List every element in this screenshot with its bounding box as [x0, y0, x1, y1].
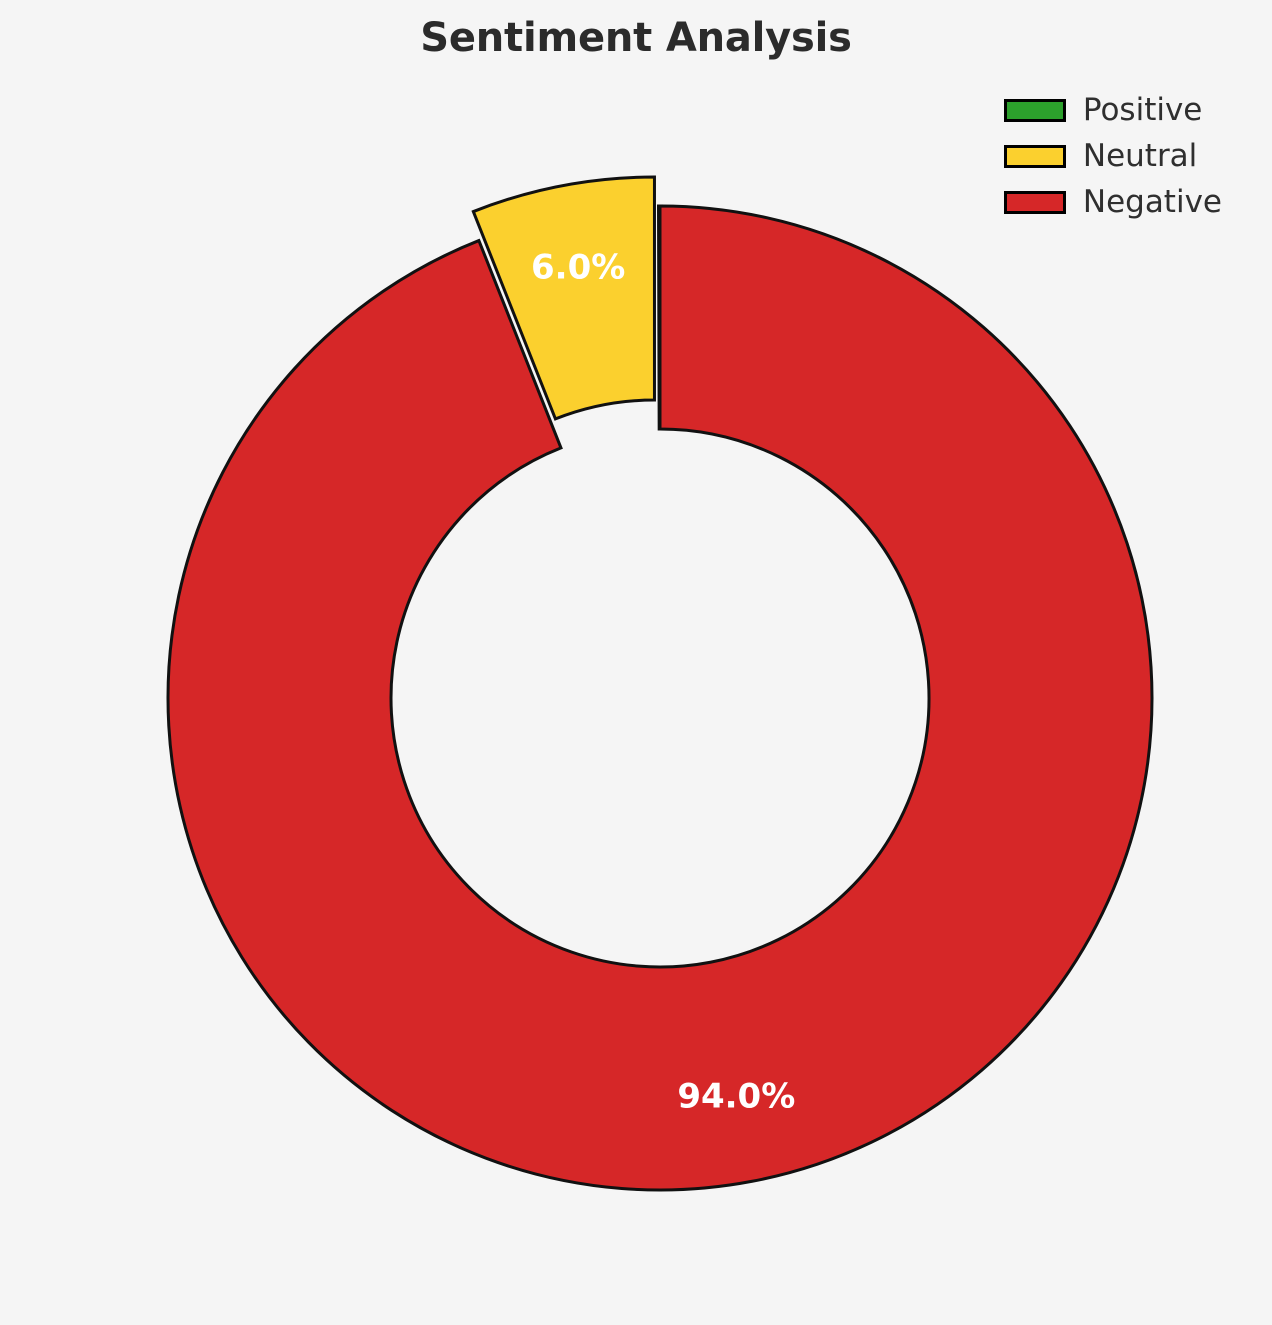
- legend-item-negative[interactable]: Negative: [1004, 186, 1222, 218]
- wedge-group: [168, 177, 1152, 1190]
- legend-swatch-neutral: [1004, 145, 1066, 168]
- legend-item-neutral[interactable]: Neutral: [1004, 140, 1197, 172]
- chart-legend: PositiveNeutralNegative: [1004, 94, 1222, 218]
- wedge-negative[interactable]: [168, 206, 1152, 1190]
- chart-figure: Sentiment Analysis 6.0%94.0% PositiveNeu…: [0, 0, 1272, 1325]
- legend-label-negative: Negative: [1083, 187, 1222, 218]
- legend-swatch-positive: [1004, 99, 1066, 122]
- legend-swatch-negative: [1004, 191, 1066, 214]
- slice-label-neutral: 6.0%: [531, 247, 625, 287]
- legend-label-neutral: Neutral: [1083, 141, 1197, 172]
- legend-item-positive[interactable]: Positive: [1004, 94, 1203, 126]
- slice-label-negative: 94.0%: [677, 1077, 795, 1117]
- legend-label-positive: Positive: [1083, 95, 1203, 126]
